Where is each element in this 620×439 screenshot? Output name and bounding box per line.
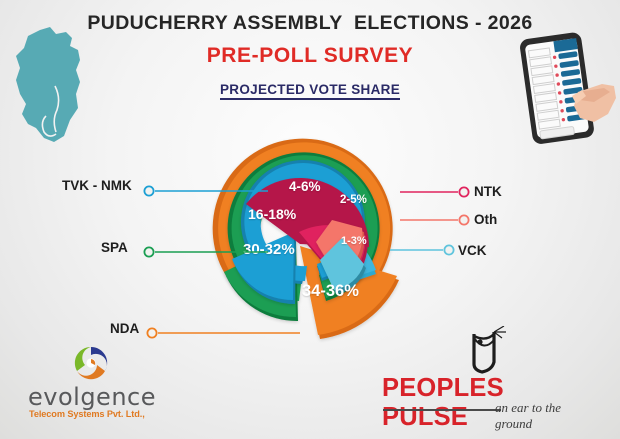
callout-label-vck: VCK <box>458 243 487 258</box>
peoples-pulse-divider <box>383 409 501 411</box>
section-label-text: PROJECTED VOTE SHARE <box>220 82 400 100</box>
peoples-pulse-tagline: an ear to the ground <box>495 400 594 432</box>
callout-label-ntk: NTK <box>474 184 502 199</box>
callout-label-oth: Oth <box>474 212 497 227</box>
evm-voting-machine-icon <box>516 26 616 150</box>
peoples-pulse-logo: PEOPLES PULSE an ear to the ground <box>382 330 594 426</box>
callout-label-tvk-nmk: TVK - NMK <box>62 178 132 193</box>
evolgence-wordmark: evolgence <box>28 383 156 411</box>
evolgence-tagline: Telecom Systems Pvt. Ltd., <box>29 409 145 419</box>
callout-label-spa: SPA <box>101 240 128 255</box>
puducherry-map-icon <box>6 24 102 148</box>
evolgence-swirl-icon <box>60 343 122 383</box>
vote-share-pie-chart <box>150 118 480 348</box>
infographic-canvas: PUDUCHERRY ASSEMBLY ELECTIONS - 2026 PRE… <box>0 0 620 439</box>
peoples-pulse-ear-icon <box>460 326 516 374</box>
evolgence-logo: evolgence Telecom Systems Pvt. Ltd., <box>28 347 158 427</box>
callout-label-nda: NDA <box>110 321 139 336</box>
